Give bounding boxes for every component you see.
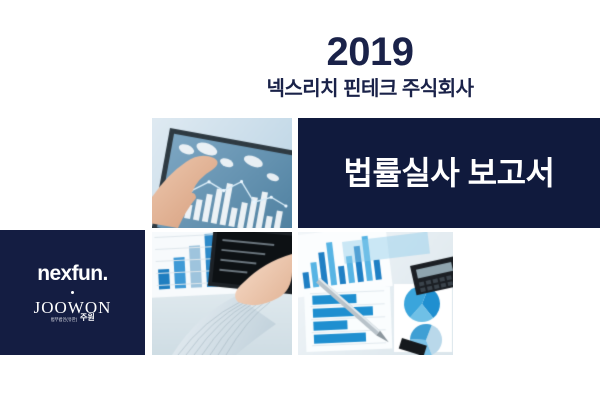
nexfun-logo: nexfun. — [37, 263, 107, 284]
cover-header: 2019 넥스리치 핀테크 주식회사 — [150, 32, 590, 100]
joowon-firm-type: 법무법인(유한) — [51, 318, 77, 323]
page-title: 법률실사 보고서 — [344, 157, 555, 189]
photo-charts-pen-calculator — [298, 232, 453, 355]
title-block: 법률실사 보고서 — [298, 118, 600, 228]
photo-hand-documents — [152, 232, 292, 355]
logo-block: nexfun. JOOWON 법무법인(유한) 주원 — [0, 230, 145, 355]
logo-separator-dot — [71, 291, 74, 294]
year-label: 2019 — [150, 32, 590, 72]
company-name: 넥스리치 핀테크 주식회사 — [150, 78, 590, 100]
joowon-korean-name: 주원 — [80, 314, 95, 322]
joowon-logo-subtitle: 법무법인(유한) 주원 — [50, 314, 95, 322]
report-cover: 2019 넥스리치 핀테크 주식회사 법률실사 보고서 nexfun. JOOW… — [0, 0, 600, 400]
photo-tablet-touch — [152, 118, 292, 228]
